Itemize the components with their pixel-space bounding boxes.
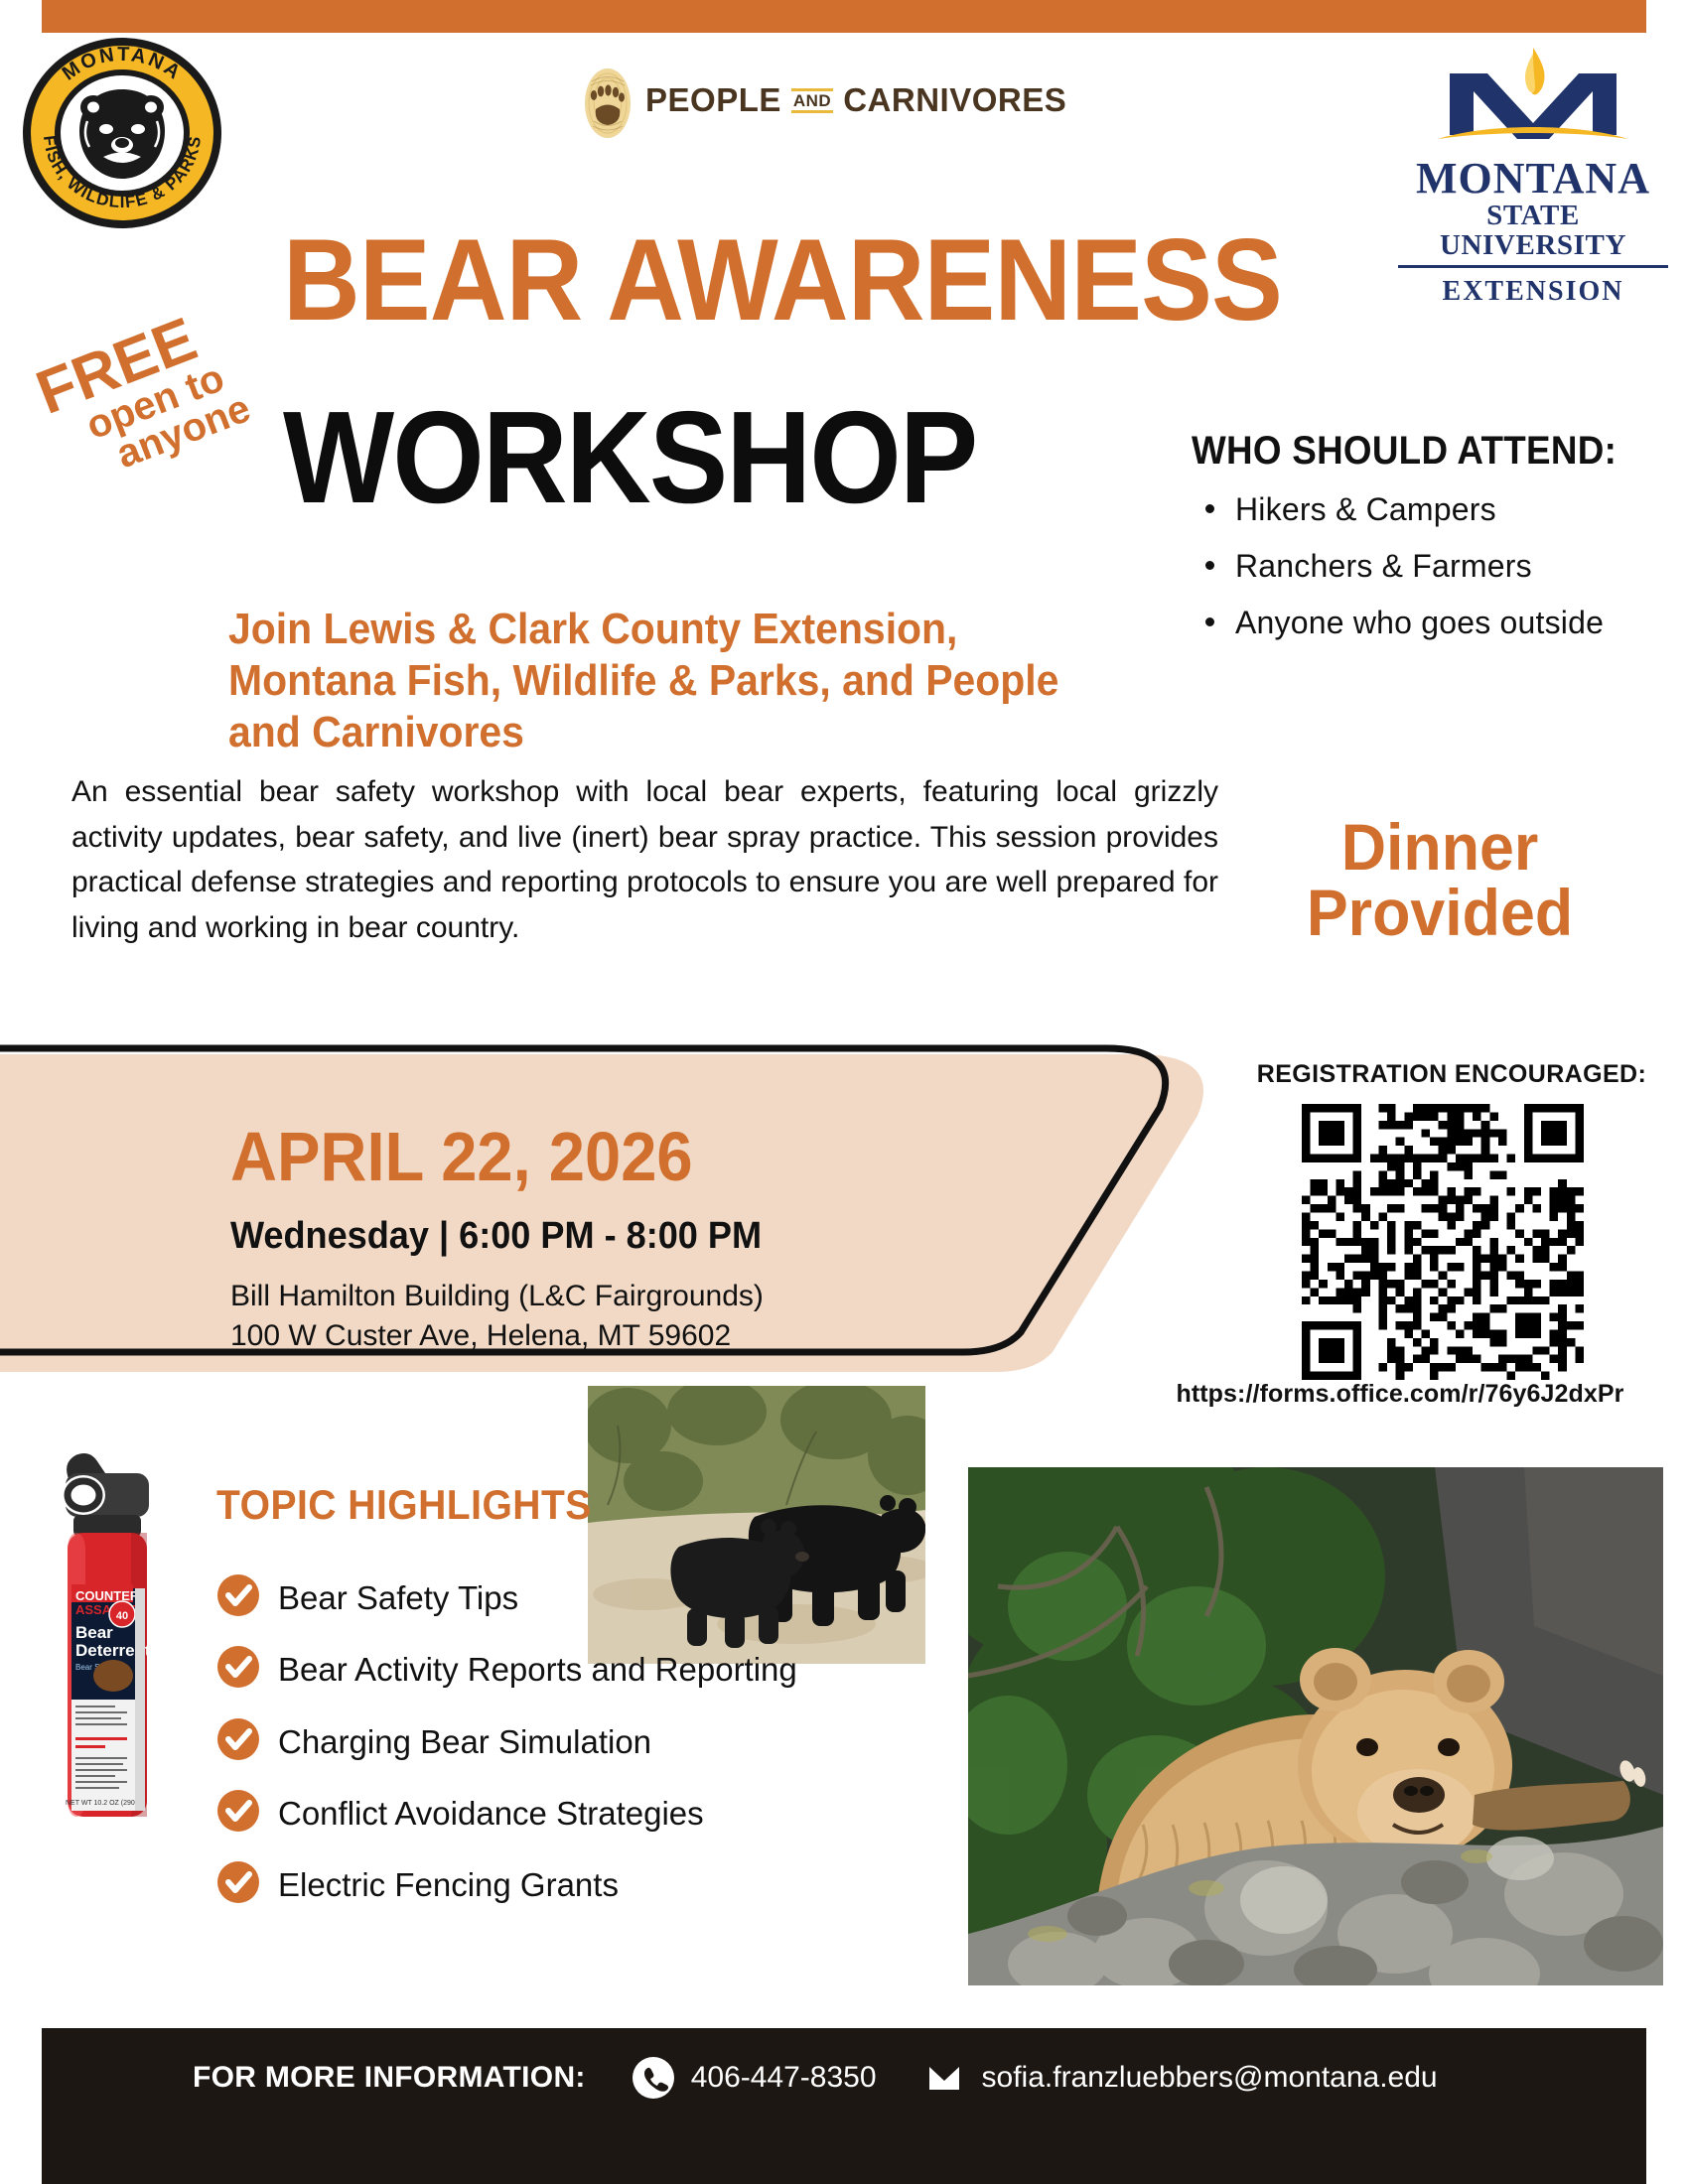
grizzly-bear-photo <box>968 1467 1663 1985</box>
people-and-carnivores-wordmark: PEOPLE AND CARNIVORES <box>645 81 1066 119</box>
list-item: Anyone who goes outside <box>1192 603 1658 643</box>
footer-bar: FOR MORE INFORMATION: 406-447-8350 sofia… <box>42 2028 1646 2184</box>
dinner-line2: Provided <box>1227 880 1652 945</box>
event-address: 100 W Custer Ave, Helena, MT 59602 <box>230 1316 789 1356</box>
footer-label: FOR MORE INFORMATION: <box>193 2056 586 2100</box>
free-badge: FREE open to anyone <box>30 288 291 493</box>
footer-email-item[interactable]: sofia.franzluebbers@montana.edu <box>922 2056 1438 2100</box>
envelope-icon <box>922 2056 966 2100</box>
msu-line-state-university: STATE UNIVERSITY <box>1398 201 1668 268</box>
pac-word-carnivores: CARNIVORES <box>843 81 1066 119</box>
pac-word-and: AND <box>791 88 833 113</box>
list-item: Bear Safety Tips <box>216 1580 931 1616</box>
list-item: Ranchers & Farmers <box>1192 546 1658 587</box>
bear-spray-can-photo: COUNTER ASSAULT Bear Deterrent Bear Spra… <box>22 1430 191 1827</box>
montana-fish-wildlife-parks-seal-logo: MONTANA FISH, WILDLIFE & PARKS <box>18 34 226 232</box>
svg-text:Bear: Bear <box>75 1623 113 1642</box>
dinner-line1: Dinner <box>1227 814 1652 880</box>
msu-line-extension: EXTENSION <box>1398 276 1668 308</box>
list-item: Bear Activity Reports and Reporting <box>216 1652 931 1688</box>
topic-label: Bear Activity Reports and Reporting <box>278 1651 797 1688</box>
flyer-page: MONTANA FISH, WILDLIFE & PARKS <box>0 0 1688 2184</box>
topic-label: Charging Bear Simulation <box>278 1723 651 1760</box>
event-venue: Bill Hamilton Building (L&C Fairgrounds) <box>230 1277 789 1316</box>
check-circle-icon <box>216 1573 260 1617</box>
subtitle: Join Lewis & Clark County Extension, Mon… <box>228 604 1115 758</box>
svg-text:NET WT 10.2 OZ (290g): NET WT 10.2 OZ (290g) <box>66 1800 141 1807</box>
top-orange-bar <box>42 0 1646 33</box>
list-item: Electric Fencing Grants <box>216 1867 931 1903</box>
registration-url[interactable]: https://forms.office.com/r/76y6J2dxPr <box>1122 1380 1678 1409</box>
footer-email: sofia.franzluebbers@montana.edu <box>982 2056 1438 2100</box>
who-should-attend-heading: WHO SHOULD ATTEND: <box>1192 429 1620 474</box>
people-and-carnivores-logo: PEOPLE AND CARNIVORES <box>584 62 1066 139</box>
dinner-provided-callout: Dinner Provided <box>1227 814 1652 945</box>
svg-text:40: 40 <box>116 1610 128 1622</box>
check-circle-icon <box>216 1717 260 1761</box>
list-item: Conflict Avoidance Strategies <box>216 1796 931 1832</box>
topic-highlights-section: TOPIC HIGHLIGHTS Bear Safety Tips Bear A… <box>216 1481 931 1939</box>
body-paragraph: An essential bear safety workshop with l… <box>71 769 1218 950</box>
topic-label: Electric Fencing Grants <box>278 1866 619 1903</box>
check-circle-icon <box>216 1789 260 1833</box>
check-circle-icon <box>216 1645 260 1689</box>
registration-heading: REGISTRATION ENCOURAGED: <box>1233 1060 1670 1089</box>
page-title-line2: WORKSHOP <box>283 397 976 517</box>
footer-phone-item[interactable]: 406-447-8350 <box>632 2056 877 2100</box>
pac-word-people: PEOPLE <box>645 81 781 119</box>
topic-highlights-list: Bear Safety Tips Bear Activity Reports a… <box>216 1580 931 1903</box>
list-item: Hikers & Campers <box>1192 489 1658 530</box>
phone-icon <box>632 2056 675 2100</box>
msu-m-flame-mark <box>1398 40 1668 155</box>
msu-line-montana: MONTANA <box>1398 157 1668 201</box>
bear-paw-icon <box>584 62 632 139</box>
who-should-attend-section: WHO SHOULD ATTEND: Hikers & Campers Ranc… <box>1192 429 1658 659</box>
list-item: Charging Bear Simulation <box>216 1724 931 1760</box>
topic-highlights-heading: TOPIC HIGHLIGHTS <box>216 1481 882 1529</box>
event-date: APRIL 22, 2026 <box>230 1122 751 1191</box>
topic-label: Bear Safety Tips <box>278 1579 518 1616</box>
event-day-time: Wednesday | 6:00 PM - 8:00 PM <box>230 1217 762 1255</box>
topic-label: Conflict Avoidance Strategies <box>278 1795 704 1832</box>
footer-phone: 406-447-8350 <box>691 2056 877 2100</box>
check-circle-icon <box>216 1860 260 1904</box>
who-should-attend-list: Hikers & Campers Ranchers & Farmers Anyo… <box>1192 489 1658 643</box>
msu-extension-logo: MONTANA STATE UNIVERSITY EXTENSION <box>1398 40 1668 308</box>
page-title-line1: BEAR AWARENESS <box>283 226 1282 334</box>
event-details: APRIL 22, 2026 Wednesday | 6:00 PM - 8:0… <box>230 1122 789 1355</box>
svg-text:COUNTER: COUNTER <box>75 1588 140 1603</box>
registration-qr-code[interactable] <box>1302 1104 1584 1380</box>
